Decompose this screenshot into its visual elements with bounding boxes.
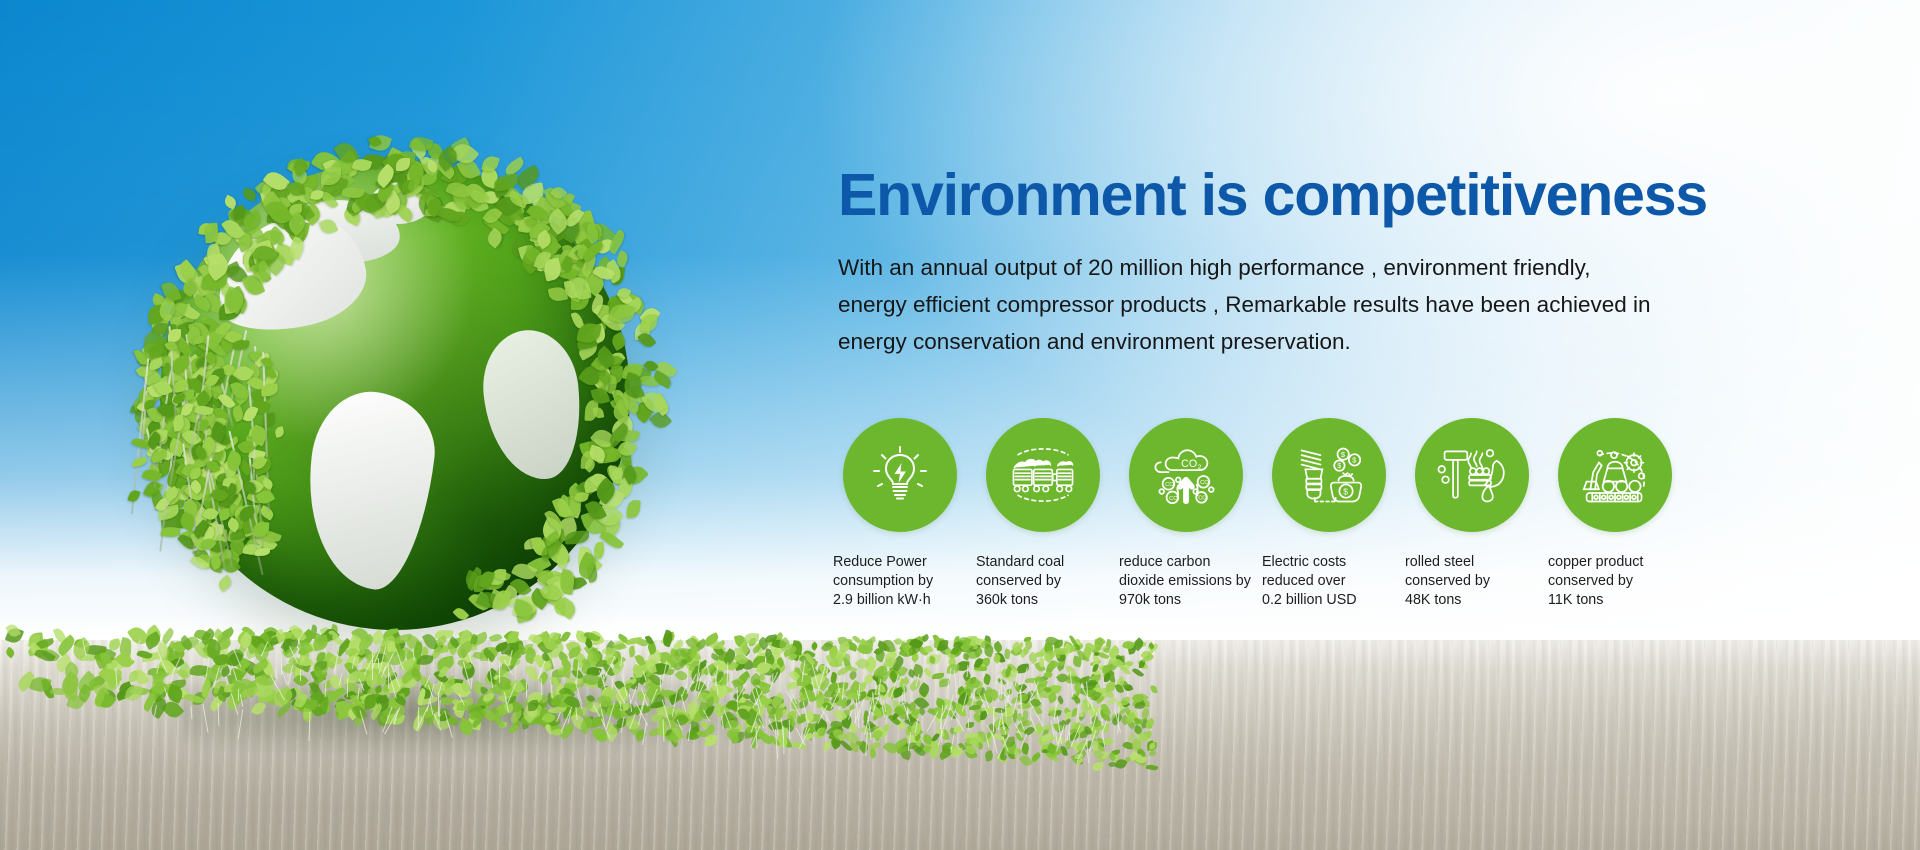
paragraph-line-2: energy efficient compressor products , R… xyxy=(838,286,1718,323)
stat-item[interactable]: Standard coal conserved by 360k tons xyxy=(971,418,1114,610)
stat-label-line: 0.2 billion USD xyxy=(1262,591,1395,610)
stat-label-line: 48K tons xyxy=(1405,591,1538,610)
stat-item[interactable]: Reduce Power consumption by 2.9 billion … xyxy=(828,418,971,610)
stat-label-line: consumption by xyxy=(833,572,966,591)
stat-label-line: conserved by xyxy=(1405,572,1538,591)
svg-text:CO: CO xyxy=(1198,496,1206,502)
stat-label-line: rolled steel xyxy=(1405,553,1538,572)
environment-banner: Environment is competitiveness With an a… xyxy=(0,0,1920,850)
hammer-forge-icon xyxy=(1437,443,1507,507)
landmass-africa xyxy=(477,325,587,484)
stat-label-line: Reduce Power xyxy=(833,553,966,572)
globe-sphere xyxy=(160,160,630,630)
stat-label-line: Standard coal xyxy=(976,553,1109,572)
stat-label: copper product conserved by 11K tons xyxy=(1548,553,1681,610)
bulb-money-icon: $ $ $ $ xyxy=(1294,442,1364,508)
stat-label: reduce carbon dioxide emissions by 970k … xyxy=(1119,553,1252,610)
stat-label-line: reduce carbon xyxy=(1119,553,1252,572)
stat-label-line: reduced over xyxy=(1262,572,1395,591)
green-globe-illustration xyxy=(120,140,680,700)
svg-text:CO: CO xyxy=(1200,480,1209,486)
stat-label: rolled steel conserved by 48K tons xyxy=(1405,553,1538,610)
page-title: Environment is competitiveness xyxy=(838,165,1848,227)
stat-icon-circle xyxy=(1558,418,1672,532)
banner-paragraph: With an annual output of 20 million high… xyxy=(838,249,1718,360)
stat-label-line: 360k tons xyxy=(976,591,1109,610)
stat-icon-circle: CO 2 CO CO CO CO xyxy=(1129,418,1243,532)
svg-text:$: $ xyxy=(1343,486,1348,496)
svg-text:$: $ xyxy=(1340,450,1345,459)
stat-label-line: Electric costs xyxy=(1262,553,1395,572)
stat-label-line: 970k tons xyxy=(1119,591,1252,610)
stat-item[interactable]: rolled steel conserved by 48K tons xyxy=(1400,418,1543,610)
stat-item[interactable]: CO 2 CO CO CO CO reduce carbon dioxide e… xyxy=(1114,418,1257,610)
svg-text:2: 2 xyxy=(1197,464,1201,471)
stat-label: Standard coal conserved by 360k tons xyxy=(976,553,1109,610)
stat-label-line: copper product xyxy=(1548,553,1681,572)
stat-icon-circle xyxy=(843,418,957,532)
stat-icon-circle xyxy=(1415,418,1529,532)
stat-icon-circle xyxy=(986,418,1100,532)
svg-text:CO: CO xyxy=(1181,458,1197,470)
stat-item[interactable]: copper product conserved by 11K tons xyxy=(1543,418,1686,610)
co2-cloud-icon: CO 2 CO CO CO CO xyxy=(1151,441,1221,509)
stats-row: Reduce Power consumption by 2.9 billion … xyxy=(828,418,1686,610)
paragraph-line-3: energy conservation and environment pres… xyxy=(838,323,1718,360)
paragraph-line-1: With an annual output of 20 million high… xyxy=(838,249,1718,286)
coal-train-icon xyxy=(1007,444,1079,506)
stat-label-line: 11K tons xyxy=(1548,591,1681,610)
stat-label: Reduce Power consumption by 2.9 billion … xyxy=(833,553,966,610)
stat-label-line: 2.9 billion kW·h xyxy=(833,591,966,610)
stat-label-line: dioxide emissions by xyxy=(1119,572,1252,591)
stat-label-line: conserved by xyxy=(1548,572,1681,591)
svg-text:$: $ xyxy=(1352,456,1357,465)
stat-label: Electric costs reduced over 0.2 billion … xyxy=(1262,553,1395,610)
stat-icon-circle: $ $ $ $ xyxy=(1272,418,1386,532)
stat-item[interactable]: $ $ $ $ Electric costs reduced over 0.2 … xyxy=(1257,418,1400,610)
copper-conveyor-icon xyxy=(1579,443,1651,507)
svg-text:CO: CO xyxy=(1165,482,1174,488)
banner-content: Environment is competitiveness With an a… xyxy=(838,165,1848,360)
landmass-south-america xyxy=(297,385,442,594)
stat-label-line: conserved by xyxy=(976,572,1109,591)
svg-text:$: $ xyxy=(1337,462,1341,470)
lightbulb-bolt-icon xyxy=(868,443,932,507)
